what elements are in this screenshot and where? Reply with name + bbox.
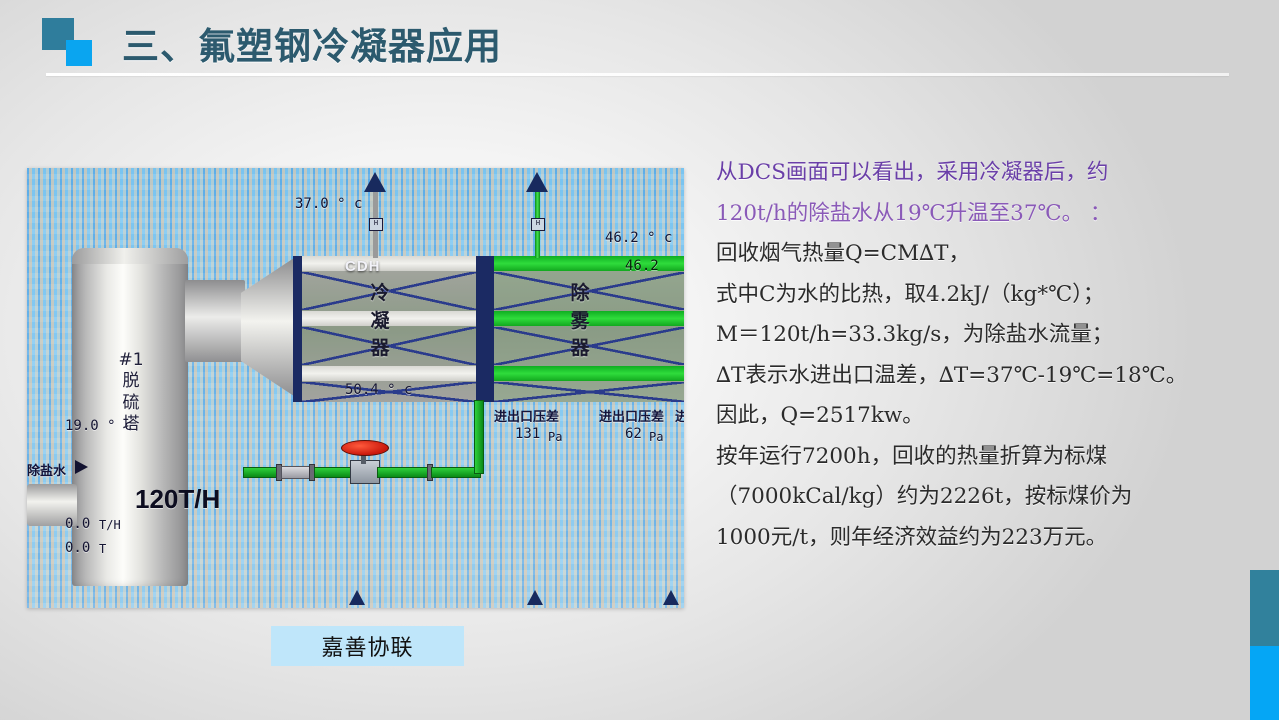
- bottom-arrow-icon-1: [349, 590, 365, 605]
- readout-outlet-temp: 37.0 ° c: [295, 196, 362, 212]
- demister-band-low: [494, 366, 684, 381]
- body-line-10: 1000元/t，则年经济效益约为223万元。: [716, 518, 1256, 559]
- body-text-block: 从DCS画面可以看出，采用冷凝器后，约 120t/h的除盐水从19℃升温至37℃…: [716, 153, 1256, 558]
- demister-xcross-3: [494, 382, 684, 402]
- header-divider: [46, 73, 1229, 76]
- label-demineralized-water: 除盐水: [27, 460, 66, 479]
- demister-sensor-icon: H: [531, 218, 545, 231]
- tower-label-id: #1: [109, 350, 153, 371]
- edge-accent-blue: [1250, 646, 1279, 720]
- edge-accent-teal: [1250, 570, 1279, 646]
- control-valve-actuator-icon: [341, 440, 389, 456]
- condenser-sensor-icon: H: [369, 218, 383, 231]
- inlet-pipe-green-2: [314, 467, 352, 478]
- condenser-vertical-label: 冷 凝 器: [367, 280, 393, 363]
- page-title: 三、氟塑钢冷凝器应用: [122, 16, 502, 70]
- body-line-8: 按年运行7200h，回收的热量折算为标煤: [716, 437, 1256, 478]
- label-dp-condenser: 进出口压差: [494, 406, 559, 425]
- demister-char-2: 雾: [567, 308, 593, 336]
- cdh-tag-label: CDH: [345, 258, 381, 275]
- label-dp-partial: 进: [675, 406, 684, 425]
- demister-char-3: 器: [567, 335, 593, 363]
- readout-dp-condenser: 131: [515, 426, 540, 442]
- header-square-light-icon: [66, 40, 92, 66]
- body-line-1: 从DCS画面可以看出，采用冷凝器后，约: [716, 153, 1256, 194]
- body-line-7: 因此，Q=2517kw。: [716, 396, 1256, 437]
- demister-vertical-label: 除 雾 器: [567, 280, 593, 363]
- dcs-screenshot-image: #1 脱 硫 塔 CDH 冷 凝 器: [27, 168, 684, 608]
- readout-flow-rate: 0.0: [65, 516, 90, 532]
- readout-inlet-water-temp: 19.0 ° c: [65, 418, 132, 434]
- readout-design-flow: 120T/H: [135, 484, 220, 515]
- tower-label-char1: 脱: [109, 371, 153, 392]
- body-line-5: M＝120t/h=33.3kg/s，为除盐水流量；: [716, 315, 1256, 356]
- body-line-6: ∆T表示水进出口温差，∆T=37℃-19℃=18℃。: [716, 356, 1256, 397]
- readout-flow-total: 0.0: [65, 540, 90, 556]
- body-line-4: 式中C为水的比热，取4.2kJ/（kg*℃）；: [716, 275, 1256, 316]
- duct-transition-cone: [241, 256, 297, 398]
- readout-condenser-bottom-temp: 50.4 ° c: [345, 382, 412, 398]
- condenser-flow-arrow-icon: [364, 172, 386, 192]
- image-caption: 嘉善协联: [271, 626, 464, 666]
- condenser-band-top: [302, 256, 476, 271]
- dcs-diagram: #1 脱 硫 塔 CDH 冷 凝 器: [27, 168, 684, 608]
- readout-dp-demister-unit: Pa: [649, 430, 663, 444]
- readout-dp-demister: 62: [625, 426, 642, 442]
- body-line-9: （7000kCal/kg）约为2226t，按标煤价为: [716, 477, 1256, 518]
- readout-demister-temp: 46.2 ° c: [605, 230, 672, 246]
- readout-demister-inline-temp: 46.2: [625, 258, 659, 274]
- tower-label-char2: 硫: [109, 393, 153, 414]
- condenser-char-2: 凝: [367, 308, 393, 336]
- readout-dp-condenser-unit: Pa: [548, 430, 562, 444]
- condenser-char-3: 器: [367, 335, 393, 363]
- outlet-pipe-green: [377, 467, 431, 478]
- slide-root: 三、氟塑钢冷凝器应用 #1 脱 硫 塔: [0, 0, 1279, 720]
- water-inlet-arrow-icon: [75, 460, 88, 474]
- condenser-char-1: 冷: [367, 280, 393, 308]
- demister-char-1: 除: [567, 280, 593, 308]
- demister-flow-arrow-icon: [526, 172, 548, 192]
- readout-flow-rate-unit: T/H: [99, 518, 121, 532]
- desulfurization-tower-cap: [72, 248, 188, 264]
- body-line-2: 120t/h的除盐水从19℃升温至37℃。 ：: [716, 194, 1256, 235]
- body-line-3: 回收烟气热量Q=CM∆T，: [716, 234, 1256, 275]
- tower-outlet-duct: [185, 280, 245, 362]
- readout-flow-total-unit: T: [99, 542, 106, 556]
- bottom-arrow-icon-3: [663, 590, 679, 605]
- condenser-band-low: [302, 366, 476, 381]
- riser-pipe-green: [474, 400, 484, 474]
- label-dp-demister: 进出口压差: [599, 406, 664, 425]
- bottom-arrow-icon-2: [527, 590, 543, 605]
